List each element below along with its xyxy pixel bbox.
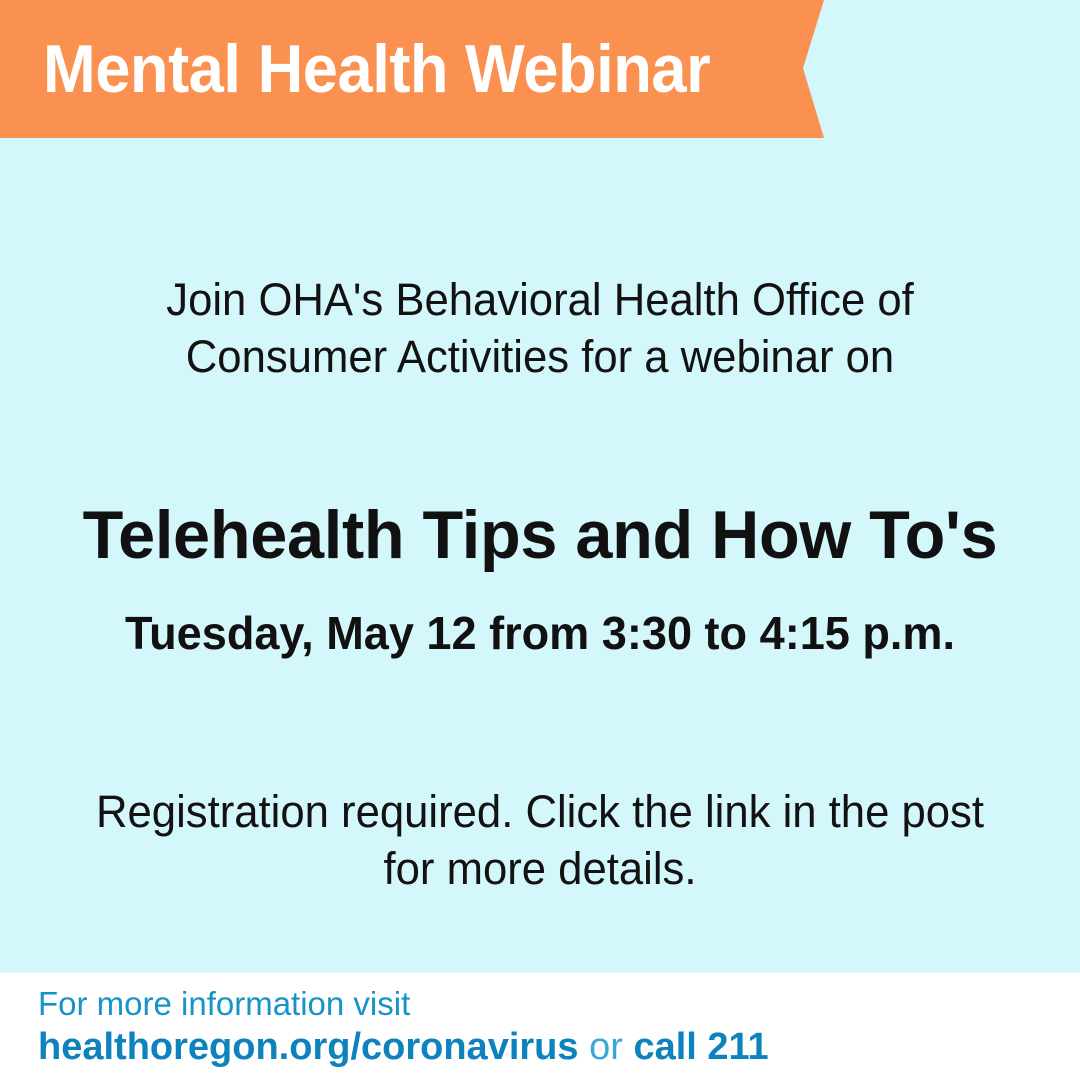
intro-text: Join OHA's Behavioral Health Office of C… <box>65 271 1016 385</box>
footer-website-link[interactable]: healthoregon.org/coronavirus <box>38 1026 579 1068</box>
footer-bar: For more information visit healthoregon.… <box>0 973 1080 1080</box>
webinar-datetime: Tuesday, May 12 from 3:30 to 4:15 p.m. <box>30 606 1049 660</box>
footer-phone-link[interactable]: call 211 <box>633 1026 768 1068</box>
footer-contact-line: healthoregon.org/coronavirus or call 211 <box>38 1024 769 1070</box>
main-content: Join OHA's Behavioral Health Office of C… <box>0 138 1080 973</box>
banner-title: Mental Health Webinar <box>43 0 710 138</box>
footer-conjunction: or <box>579 1026 634 1068</box>
footer-prompt: For more information visit <box>38 984 769 1024</box>
registration-note: Registration required. Click the link in… <box>65 783 1016 897</box>
webinar-title: Telehealth Tips and How To's <box>30 498 1049 572</box>
poster-canvas: Mental Health Webinar Join OHA's Behavio… <box>0 0 1080 1080</box>
footer-text-block: For more information visit healthoregon.… <box>38 984 769 1070</box>
